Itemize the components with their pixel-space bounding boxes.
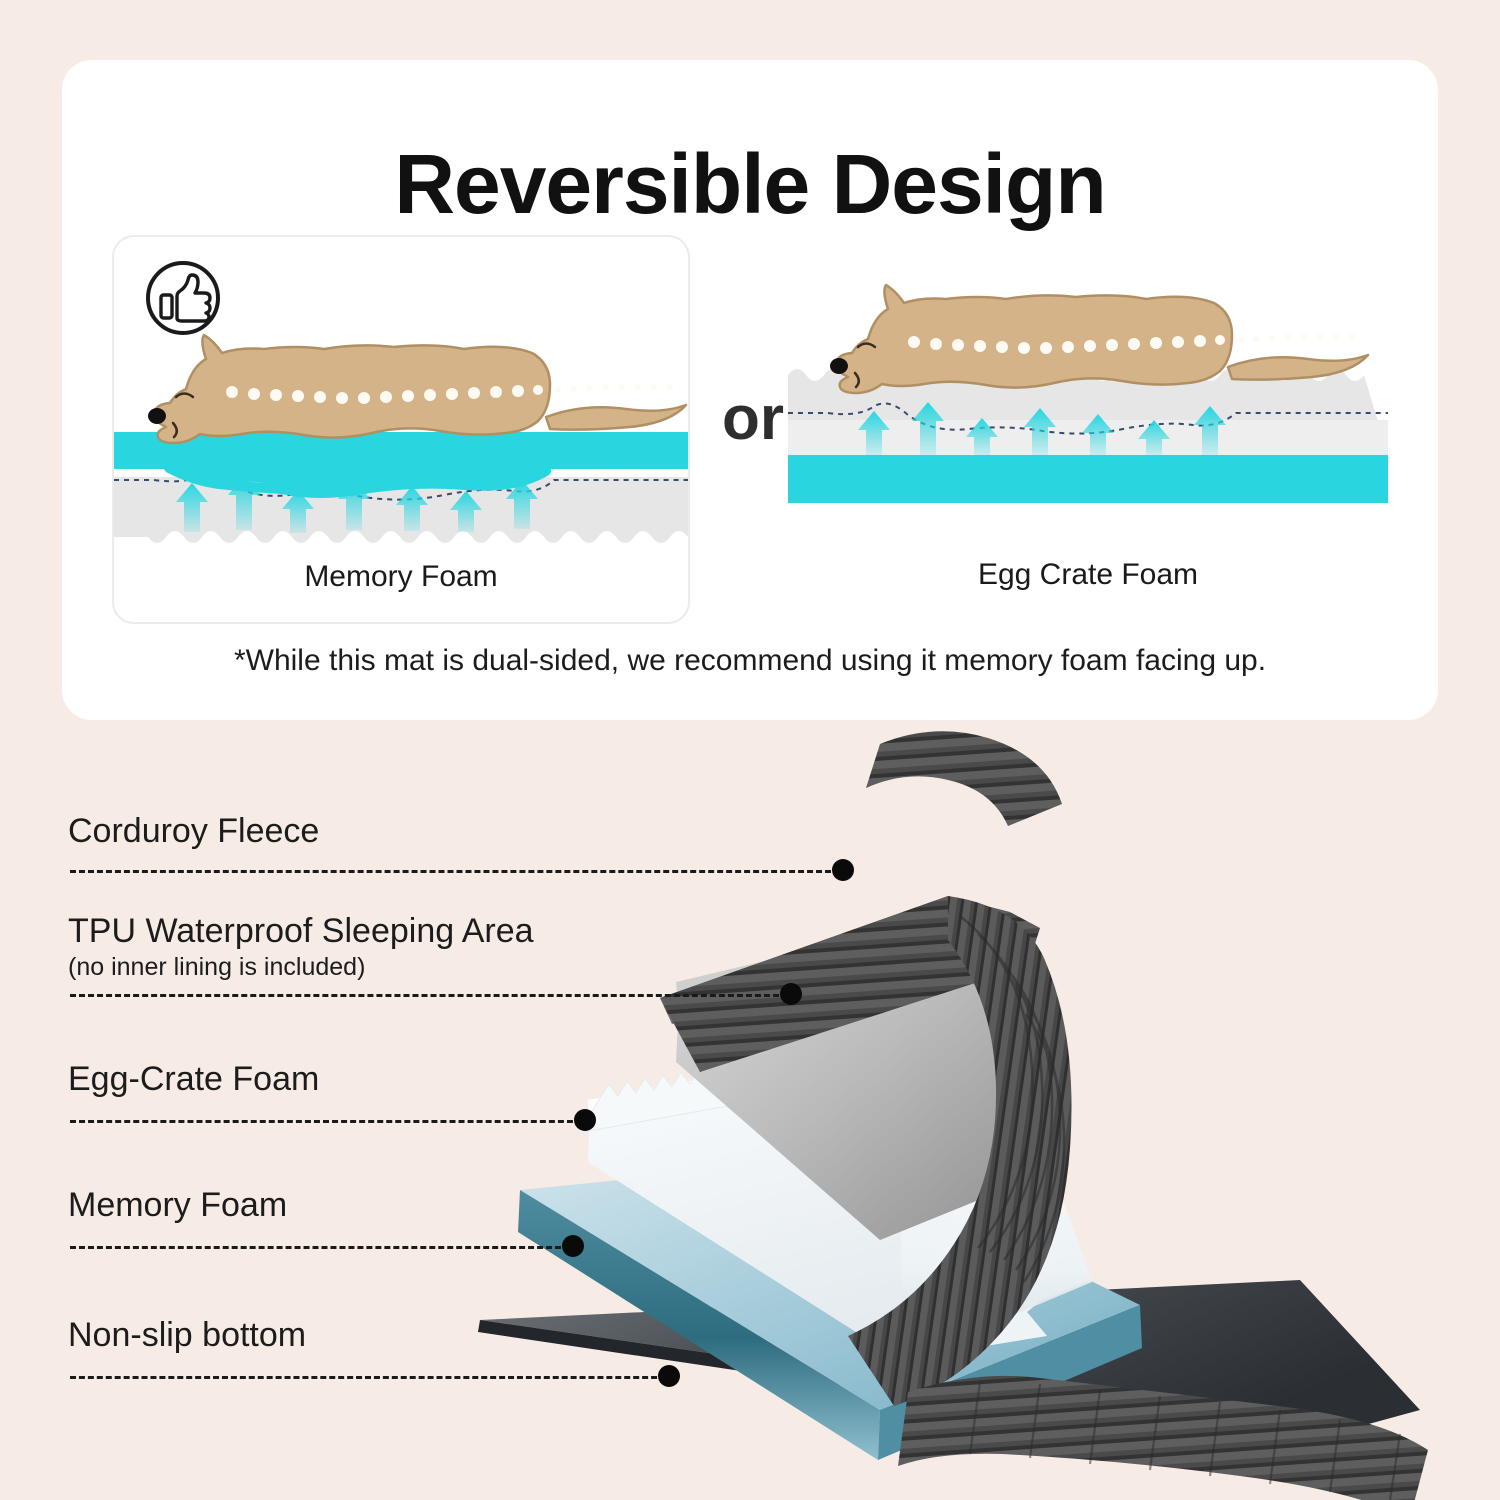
leader-line-memory-foam	[70, 1246, 570, 1249]
callout-sublabel: (no inner lining is included)	[68, 953, 534, 982]
or-divider-label: or	[708, 383, 798, 454]
reversible-design-card: Reversible Design	[62, 60, 1438, 720]
callout-label: Non-slip bottom	[68, 1316, 306, 1355]
page-title: Reversible Design	[62, 142, 1438, 226]
callout-label: TPU Waterproof Sleeping Area	[68, 912, 534, 951]
leader-dot-corduroy-fleece	[832, 859, 854, 881]
leader-line-tpu-waterproof	[70, 994, 788, 997]
callout-label: Memory Foam	[68, 1186, 287, 1225]
leader-dot-memory-foam	[562, 1235, 584, 1257]
leader-dot-egg-crate-foam	[574, 1109, 596, 1131]
layer-breakdown-section: Corduroy Fleece TPU Waterproof Sleeping …	[0, 720, 1500, 1500]
callout-non-slip-bottom: Non-slip bottom	[68, 1316, 306, 1355]
egg-crate-foam-panel: Egg Crate Foam	[788, 235, 1388, 620]
leader-line-non-slip-bottom	[70, 1376, 666, 1379]
leader-line-corduroy-fleece	[70, 870, 840, 873]
memory-foam-caption: Memory Foam	[114, 560, 688, 594]
leader-dot-tpu-waterproof	[780, 983, 802, 1005]
memory-foam-panel: Memory Foam	[112, 235, 690, 624]
callout-egg-crate-foam: Egg-Crate Foam	[68, 1060, 319, 1099]
leader-line-egg-crate-foam	[70, 1120, 582, 1123]
egg-crate-foam-caption: Egg Crate Foam	[788, 558, 1388, 592]
callout-label: Corduroy Fleece	[68, 812, 319, 851]
callout-label: Egg-Crate Foam	[68, 1060, 319, 1099]
comparison-panels: Memory Foam or	[112, 235, 1388, 625]
thumbs-up-icon	[144, 259, 222, 337]
callout-memory-foam: Memory Foam	[68, 1186, 287, 1225]
leader-dot-non-slip-bottom	[658, 1365, 680, 1387]
dual-sided-footnote: *While this mat is dual-sided, we recomm…	[62, 644, 1438, 678]
callout-corduroy-fleece: Corduroy Fleece	[68, 812, 319, 851]
callout-tpu-waterproof: TPU Waterproof Sleeping Area (no inner l…	[68, 912, 534, 982]
